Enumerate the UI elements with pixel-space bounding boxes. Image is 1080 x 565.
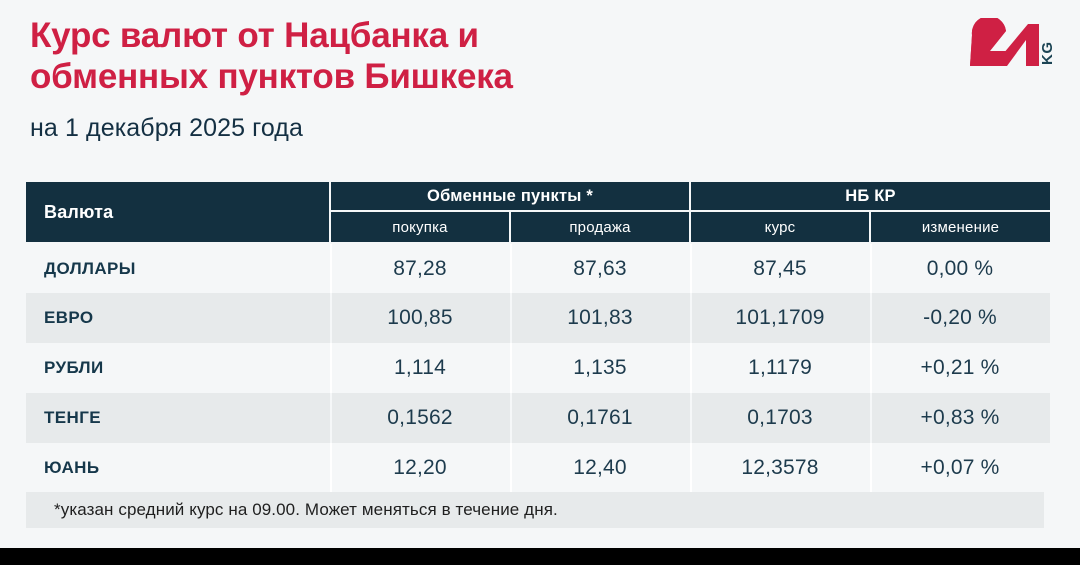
header-row-groups: Валюта Обменные пункты * НБ КР xyxy=(26,181,1050,211)
column-group-exchange-offices: Обменные пункты * xyxy=(330,181,690,211)
page-header: Курс валют от Нацбанка и обменных пункто… xyxy=(30,16,1050,143)
cell-sell: 87,63 xyxy=(510,243,690,293)
rates-table-body: ДОЛЛАРЫ87,2887,6387,450,00 %ЕВРО100,8510… xyxy=(26,243,1050,493)
cell-sell: 0,1761 xyxy=(510,393,690,443)
table-row: ЮАНЬ12,2012,4012,3578+0,07 % xyxy=(26,443,1050,493)
cell-currency: ДОЛЛАРЫ xyxy=(26,243,330,293)
cell-rate: 0,1703 xyxy=(690,393,870,443)
column-group-nbkr: НБ КР xyxy=(690,181,1050,211)
cell-change: +0,83 % xyxy=(870,393,1050,443)
cell-buy: 0,1562 xyxy=(330,393,510,443)
infographic-page: Курс валют от Нацбанка и обменных пункто… xyxy=(0,0,1080,565)
cell-rate: 12,3578 xyxy=(690,443,870,493)
cell-currency: РУБЛИ xyxy=(26,343,330,393)
table-row: РУБЛИ1,1141,1351,1179+0,21 % xyxy=(26,343,1050,393)
cell-buy: 12,20 xyxy=(330,443,510,493)
table-row: ТЕНГЕ0,15620,17610,1703+0,83 % xyxy=(26,393,1050,443)
cell-change: -0,20 % xyxy=(870,293,1050,343)
table-row: ДОЛЛАРЫ87,2887,6387,450,00 % xyxy=(26,243,1050,293)
bottom-bar xyxy=(0,548,1080,565)
cell-sell: 1,135 xyxy=(510,343,690,393)
cell-change: 0,00 % xyxy=(870,243,1050,293)
table-row: ЕВРО100,85101,83101,1709-0,20 % xyxy=(26,293,1050,343)
rates-table-container: Валюта Обменные пункты * НБ КР покупка п… xyxy=(26,180,1050,493)
column-header-sell: продажа xyxy=(510,211,690,243)
cell-change: +0,07 % xyxy=(870,443,1050,493)
svg-text:KG: KG xyxy=(1039,42,1056,66)
cell-buy: 100,85 xyxy=(330,293,510,343)
column-header-change: изменение xyxy=(870,211,1050,243)
column-header-buy: покупка xyxy=(330,211,510,243)
page-title: Курс валют от Нацбанка и обменных пункто… xyxy=(30,16,730,98)
cell-change: +0,21 % xyxy=(870,343,1050,393)
cell-currency: ЕВРО xyxy=(26,293,330,343)
column-header-rate: курс xyxy=(690,211,870,243)
cell-sell: 101,83 xyxy=(510,293,690,343)
cell-rate: 87,45 xyxy=(690,243,870,293)
cell-buy: 1,114 xyxy=(330,343,510,393)
page-title-line-2: обменных пунктов Бишкека xyxy=(30,57,730,98)
cell-currency: ЮАНЬ xyxy=(26,443,330,493)
cell-currency: ТЕНГЕ xyxy=(26,393,330,443)
cell-rate: 1,1179 xyxy=(690,343,870,393)
footnote-text: *указан средний курс на 09.00. Может мен… xyxy=(26,500,558,520)
column-header-currency: Валюта xyxy=(26,181,330,243)
cell-rate: 101,1709 xyxy=(690,293,870,343)
logo-24kg-icon: KG xyxy=(966,18,1058,76)
rates-table: Валюта Обменные пункты * НБ КР покупка п… xyxy=(26,180,1050,493)
footnote-bar: *указан средний курс на 09.00. Может мен… xyxy=(26,492,1044,528)
page-subtitle: на 1 декабря 2025 года xyxy=(30,114,1050,143)
page-title-line-1: Курс валют от Нацбанка и xyxy=(30,16,730,57)
logo-24kg: KG xyxy=(966,18,1058,76)
rates-table-head: Валюта Обменные пункты * НБ КР покупка п… xyxy=(26,181,1050,243)
cell-sell: 12,40 xyxy=(510,443,690,493)
cell-buy: 87,28 xyxy=(330,243,510,293)
